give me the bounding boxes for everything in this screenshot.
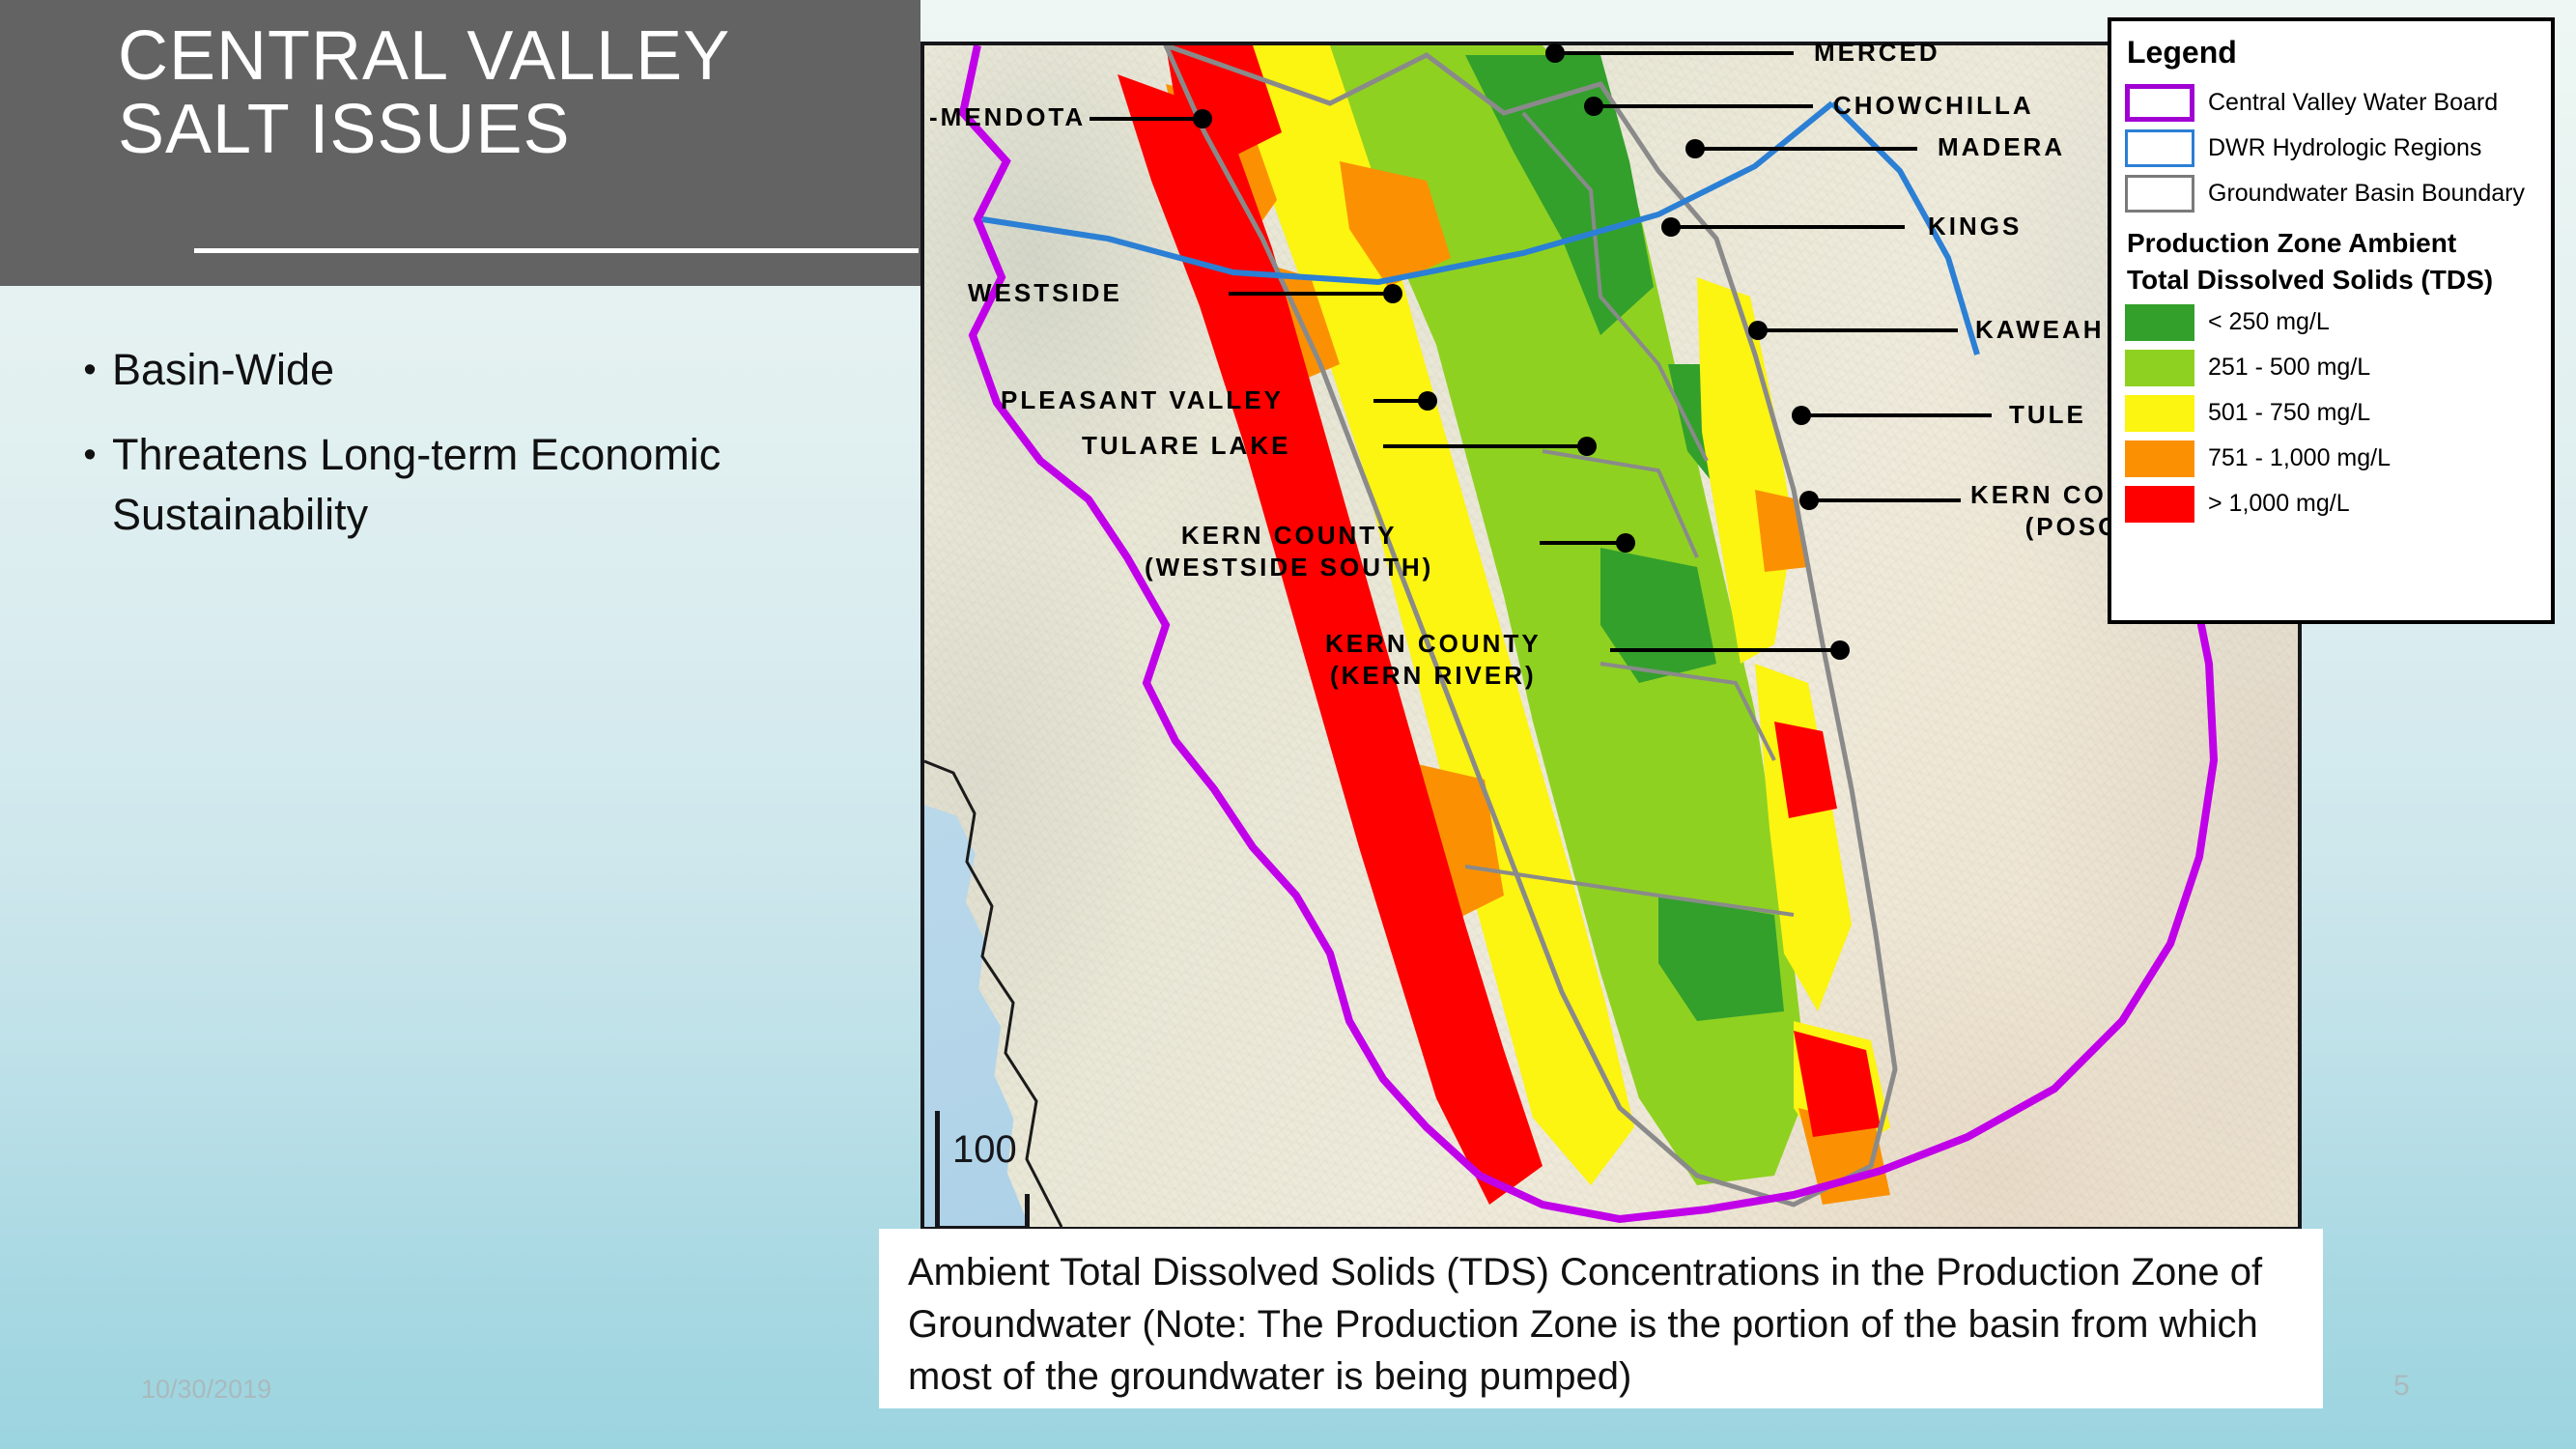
scale-bar-value: 100 bbox=[952, 1128, 1017, 1172]
legend-title: Legend bbox=[2127, 35, 2551, 71]
legend-row-tds-lt-250: < 250 mg/L bbox=[2125, 299, 2551, 345]
legend-label-tds-251-500: 251 - 500 mg/L bbox=[2208, 354, 2370, 382]
central-valley-water-board-boundary bbox=[924, 45, 2298, 1227]
bullet-list: • Basin-Wide • Threatens Long-term Econo… bbox=[68, 340, 879, 570]
leader-line-merced bbox=[1557, 51, 1794, 55]
leader-line-madera bbox=[1697, 147, 1917, 151]
figure-caption: Ambient Total Dissolved Solids (TDS) Con… bbox=[879, 1229, 2323, 1408]
leader-line-pleasant-valley bbox=[1373, 399, 1424, 403]
legend-label-dwr-hydrologic-regions: DWR Hydrologic Regions bbox=[2208, 134, 2481, 162]
bullet-label: Basin-Wide bbox=[112, 340, 879, 400]
footer-slide-number: 5 bbox=[2393, 1370, 2410, 1403]
leader-line-tule bbox=[1803, 413, 1992, 417]
swatch-tds-251-500 bbox=[2125, 350, 2194, 386]
legend-row-tds-gt-1000: > 1,000 mg/L bbox=[2125, 481, 2551, 526]
list-item: • Threatens Long-term Economic Sustainab… bbox=[68, 425, 879, 545]
map-label-kings: KINGS bbox=[1928, 211, 2022, 242]
footer-date: 10/30/2019 bbox=[141, 1375, 271, 1405]
legend-row-tds-251-500: 251 - 500 mg/L bbox=[2125, 345, 2551, 390]
leader-line-kern-county-kern-river bbox=[1610, 648, 1834, 652]
swatch-central-valley-water-board bbox=[2125, 84, 2194, 122]
legend-row-central-valley-water-board: Central Valley Water Board bbox=[2125, 80, 2551, 126]
swatch-dwr-hydrologic-regions bbox=[2125, 129, 2194, 167]
map-label-merced: MERCED bbox=[1814, 37, 1940, 69]
leader-line-kern-county-westside-south bbox=[1540, 541, 1622, 545]
map-label-madera: MADERA bbox=[1938, 131, 2065, 163]
leader-line-westside bbox=[1229, 292, 1388, 296]
map-legend: Legend Central Valley Water Board DWR Hy… bbox=[2108, 17, 2555, 624]
map-figure bbox=[920, 42, 2302, 1231]
map-label-pleasant-valley: PLEASANT VALLEY bbox=[1001, 384, 1284, 416]
swatch-tds-501-750 bbox=[2125, 395, 2194, 432]
leader-line-tulare-lake bbox=[1383, 444, 1581, 448]
leader-line-mendota bbox=[1090, 117, 1198, 121]
legend-label-tds-lt-250: < 250 mg/L bbox=[2208, 308, 2330, 336]
legend-label-tds-gt-1000: > 1,000 mg/L bbox=[2208, 490, 2350, 518]
map-label-mendota: -MENDOTA bbox=[929, 101, 1086, 133]
legend-row-groundwater-basin-boundary: Groundwater Basin Boundary bbox=[2125, 171, 2551, 216]
leader-line-kings bbox=[1673, 225, 1905, 229]
map-label-tulare-lake: TULARE LAKE bbox=[1082, 430, 1290, 462]
bullet-marker-icon: • bbox=[68, 340, 112, 400]
scale-bar-vertical-rule bbox=[935, 1111, 940, 1231]
legend-section-heading-line1: Production Zone Ambient bbox=[2127, 226, 2551, 261]
swatch-tds-lt-250 bbox=[2125, 304, 2194, 341]
title-underline bbox=[194, 248, 919, 253]
scale-bar-tick bbox=[1025, 1194, 1030, 1231]
legend-label-central-valley-water-board: Central Valley Water Board bbox=[2208, 89, 2498, 117]
swatch-tds-gt-1000 bbox=[2125, 486, 2194, 523]
map-label-tule: TULE bbox=[2009, 399, 2086, 431]
title-banner: CENTRAL VALLEY SALT ISSUES bbox=[0, 0, 920, 286]
scale-bar: 100 bbox=[935, 1111, 1061, 1231]
legend-label-tds-501-750: 501 - 750 mg/L bbox=[2208, 399, 2370, 427]
leader-line-kaweah bbox=[1760, 328, 1958, 332]
page-title: CENTRAL VALLEY SALT ISSUES bbox=[118, 19, 910, 166]
swatch-tds-751-1000 bbox=[2125, 440, 2194, 477]
map-label-westside: WESTSIDE bbox=[968, 277, 1122, 309]
bullet-label: Threatens Long-term Economic Sustainabil… bbox=[112, 425, 879, 545]
swatch-groundwater-basin-boundary bbox=[2125, 175, 2194, 213]
bullet-marker-icon: • bbox=[68, 425, 112, 485]
map-label-kern-county-kern-river: KERN COUNTY (KERN RIVER) bbox=[1325, 628, 1542, 692]
map-label-kern-county-westside-south: KERN COUNTY (WESTSIDE SOUTH) bbox=[1145, 520, 1433, 583]
legend-label-tds-751-1000: 751 - 1,000 mg/L bbox=[2208, 444, 2391, 472]
leader-line-kern-county-poso bbox=[1811, 498, 1961, 502]
legend-label-groundwater-basin-boundary: Groundwater Basin Boundary bbox=[2208, 180, 2525, 208]
legend-row-tds-751-1000: 751 - 1,000 mg/L bbox=[2125, 436, 2551, 481]
legend-section-heading-line2: Total Dissolved Solids (TDS) bbox=[2127, 263, 2551, 298]
list-item: • Basin-Wide bbox=[68, 340, 879, 400]
map-label-kaweah: KAWEAH bbox=[1975, 314, 2105, 346]
map-label-chowchilla: CHOWCHILLA bbox=[1833, 90, 2034, 122]
legend-row-dwr-hydrologic-regions: DWR Hydrologic Regions bbox=[2125, 126, 2551, 171]
leader-line-chowchilla bbox=[1596, 104, 1813, 108]
legend-row-tds-501-750: 501 - 750 mg/L bbox=[2125, 390, 2551, 436]
